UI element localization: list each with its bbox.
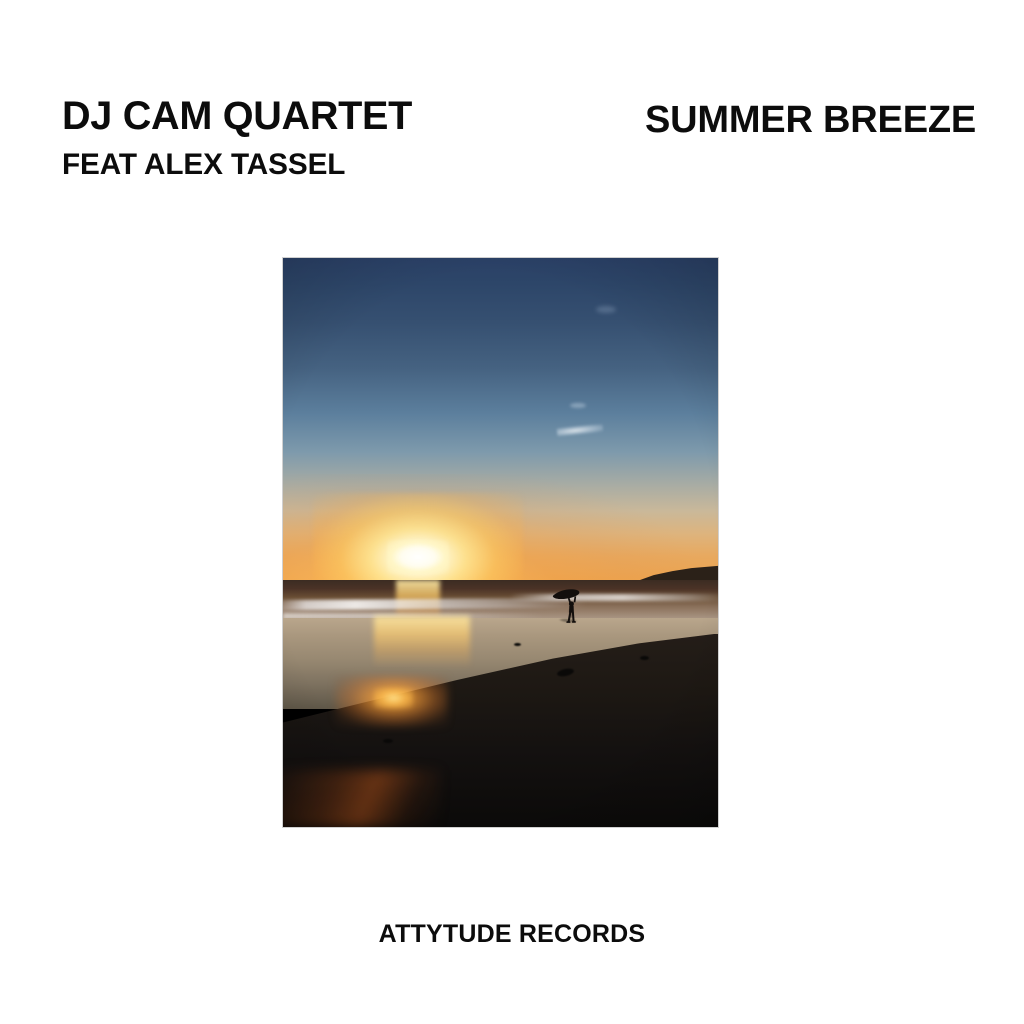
artist-block: DJ CAM QUARTET FEAT ALEX TASSEL xyxy=(62,96,416,180)
artist-name: DJ CAM QUARTET xyxy=(62,96,412,136)
sun-reflection-on-wet-sand xyxy=(374,616,470,667)
artwork-scene xyxy=(283,258,718,827)
cover-artwork-photo xyxy=(283,258,718,827)
sand-debris xyxy=(514,643,521,646)
release-title: SUMMER BREEZE xyxy=(645,101,976,139)
sand-pool-highlight xyxy=(374,688,413,707)
record-label: ATTYTUDE RECORDS xyxy=(0,922,1024,947)
foreground-orange-streak xyxy=(283,770,440,827)
artist-feature: FEAT ALEX TASSEL xyxy=(62,150,412,180)
album-cover: DJ CAM QUARTET FEAT ALEX TASSEL SUMMER B… xyxy=(0,0,1024,1024)
sun-core xyxy=(387,540,449,574)
surfer-reflection xyxy=(551,610,591,624)
